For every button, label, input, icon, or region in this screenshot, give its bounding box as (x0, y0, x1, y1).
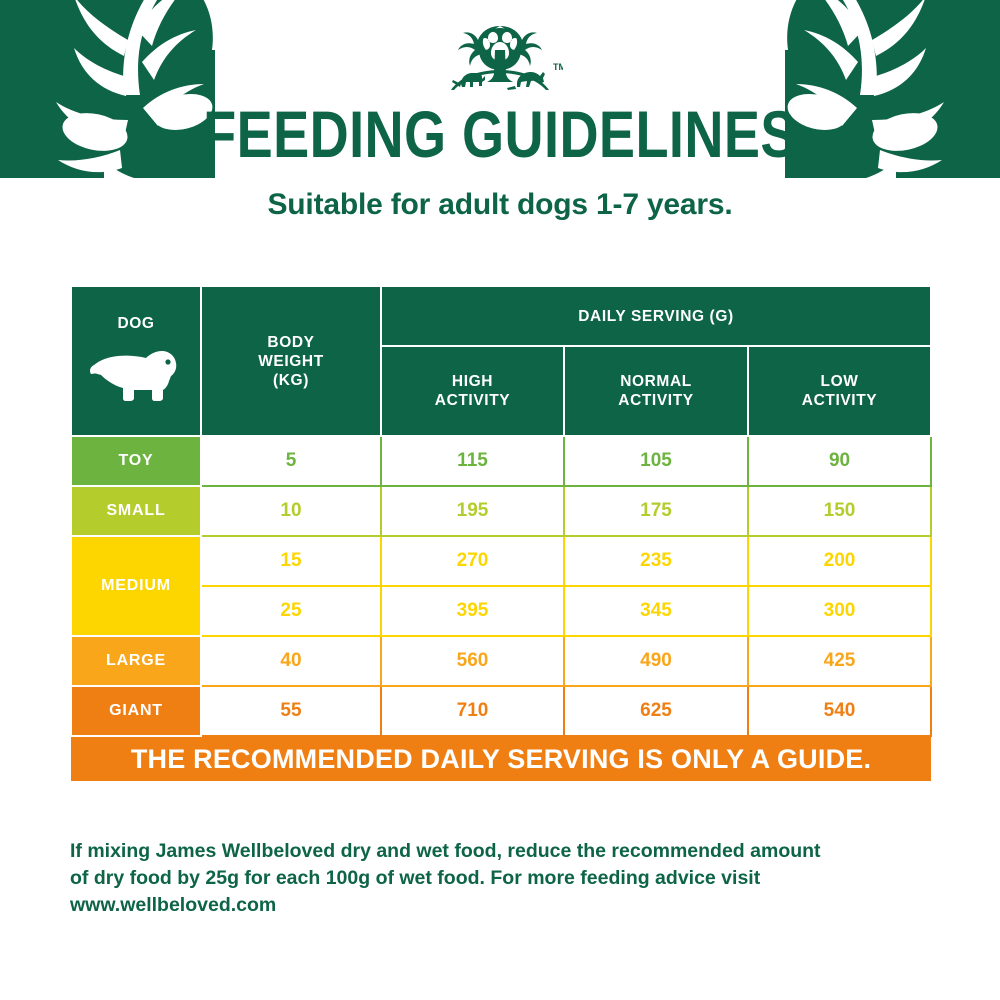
table-row: TOY 5 115 105 90 (71, 436, 931, 486)
body-weight-line-2: WEIGHT (202, 352, 380, 371)
guide-banner: THE RECOMMENDED DAILY SERVING IS ONLY A … (71, 736, 931, 781)
row-category-small: SMALL (71, 486, 201, 536)
cell-high: 710 (381, 686, 564, 736)
cell-normal: 175 (564, 486, 748, 536)
column-header-dog: DOG (71, 286, 201, 436)
column-header-daily-serving: DAILY SERVING (G) (381, 286, 931, 346)
cell-high: 395 (381, 586, 564, 636)
trademark-mark: TM (553, 62, 563, 72)
table-banner-row: THE RECOMMENDED DAILY SERVING IS ONLY A … (71, 736, 931, 781)
feeding-guidelines-table: DOG BODY WEIGHT (70, 285, 932, 781)
row-category-medium: MEDIUM (71, 536, 201, 636)
footer-line-2: of dry food by 25g for each 100g of wet … (70, 865, 935, 892)
column-header-normal-activity: NORMAL ACTIVITY (564, 346, 748, 436)
column-header-body-weight: BODY WEIGHT (KG) (201, 286, 381, 436)
normal-activity-line-2: ACTIVITY (565, 391, 747, 410)
cell-low: 200 (748, 536, 931, 586)
cell-low: 540 (748, 686, 931, 736)
row-category-giant: GIANT (71, 686, 201, 736)
column-header-low-activity: LOW ACTIVITY (748, 346, 931, 436)
feeding-table-wrapper: DOG BODY WEIGHT (70, 285, 930, 781)
cell-normal: 235 (564, 536, 748, 586)
body-weight-line-3: (KG) (202, 371, 380, 390)
cell-weight: 55 (201, 686, 381, 736)
cell-low: 425 (748, 636, 931, 686)
footer-website: www.wellbeloved.com (70, 892, 935, 919)
table-row: LARGE 40 560 490 425 (71, 636, 931, 686)
table-header-row-1: DOG BODY WEIGHT (71, 286, 931, 346)
high-activity-line-2: ACTIVITY (382, 391, 563, 410)
footer-line-1: If mixing James Wellbeloved dry and wet … (70, 838, 935, 865)
column-header-high-activity: HIGH ACTIVITY (381, 346, 564, 436)
footer-note: If mixing James Wellbeloved dry and wet … (70, 838, 935, 919)
cell-high: 560 (381, 636, 564, 686)
cell-normal: 345 (564, 586, 748, 636)
page-subtitle: Suitable for adult dogs 1-7 years. (0, 188, 1000, 222)
cell-normal: 625 (564, 686, 748, 736)
cell-high: 195 (381, 486, 564, 536)
low-activity-line-2: ACTIVITY (749, 391, 930, 410)
row-category-toy: TOY (71, 436, 201, 486)
normal-activity-line-1: NORMAL (565, 372, 747, 391)
cell-high: 270 (381, 536, 564, 586)
column-header-dog-label: DOG (72, 314, 200, 333)
low-activity-line-1: LOW (749, 372, 930, 391)
cell-low: 300 (748, 586, 931, 636)
high-activity-line-1: HIGH (382, 372, 563, 391)
cell-low: 150 (748, 486, 931, 536)
table-row: SMALL 10 195 175 150 (71, 486, 931, 536)
cell-weight: 25 (201, 586, 381, 636)
cell-high: 115 (381, 436, 564, 486)
cell-weight: 10 (201, 486, 381, 536)
cell-low: 90 (748, 436, 931, 486)
cell-weight: 15 (201, 536, 381, 586)
body-weight-line-1: BODY (202, 333, 380, 352)
cell-weight: 5 (201, 436, 381, 486)
table-row: MEDIUM 15 270 235 200 (71, 536, 931, 586)
cell-weight: 40 (201, 636, 381, 686)
table-row: GIANT 55 710 625 540 (71, 686, 931, 736)
tree-paw-logo-icon: TM (437, 12, 563, 92)
dog-silhouette-icon (72, 343, 200, 410)
cell-normal: 490 (564, 636, 748, 686)
page-title: FEEDING GUIDELINES (90, 98, 910, 170)
cell-normal: 105 (564, 436, 748, 486)
brand-logo: TM (435, 12, 565, 94)
row-category-large: LARGE (71, 636, 201, 686)
